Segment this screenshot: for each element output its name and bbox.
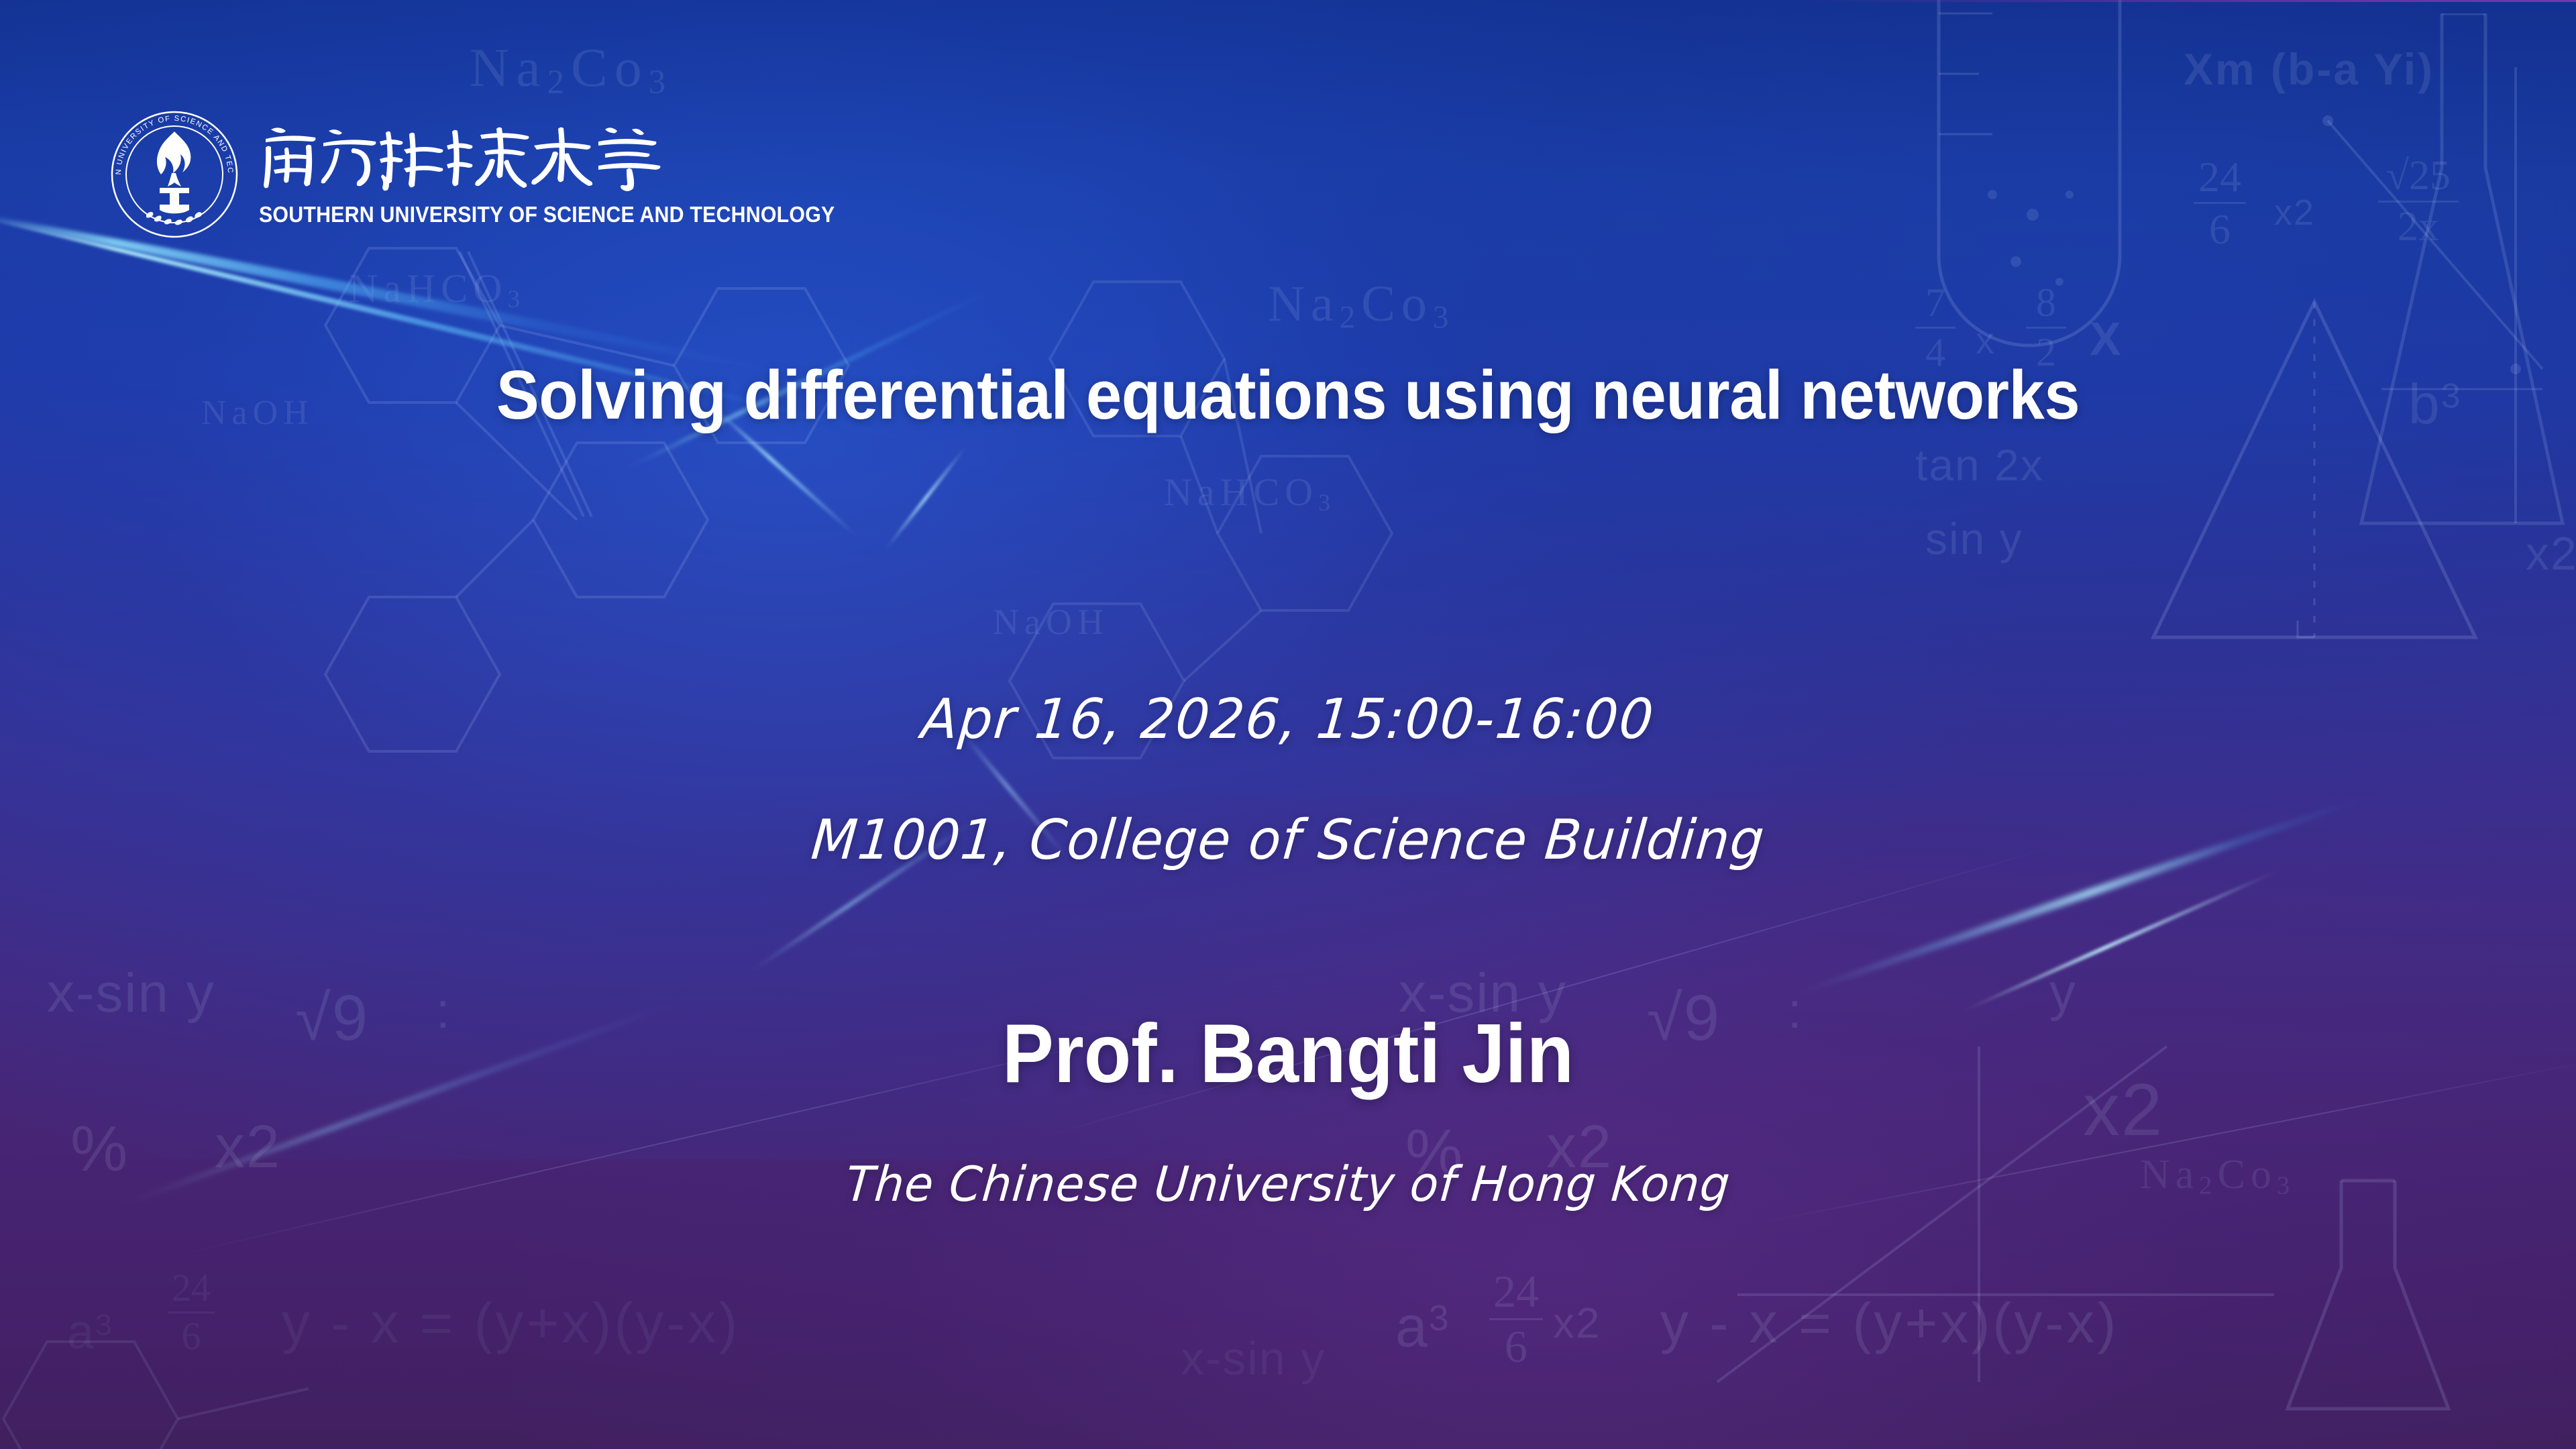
talk-venue: M1001, College of Science Building: [49, 808, 2528, 872]
watermark-fraction-24-6: 246: [1489, 1268, 1543, 1371]
watermark-sin-y: sin y: [1925, 517, 2023, 561]
logo-chinese-name-icon: [259, 119, 675, 194]
watermark-a-cubed: a3: [67, 1308, 113, 1356]
light-streak: [1960, 869, 2279, 1014]
speaker-name: Prof. Bangti Jin: [90, 1006, 2485, 1102]
university-logo: SOUTHERN UNIVERSITY OF SCIENCE AND TECHN…: [107, 107, 885, 241]
watermark-fraction-24-6: 246: [168, 1268, 215, 1357]
talk-title: Solving differential equations using neu…: [90, 356, 2485, 435]
watermark-formula-xm: Xm (b-a Yi): [2184, 47, 2434, 91]
watermark-times-symbol: x: [1976, 322, 1996, 360]
speaker-affiliation: The Chinese University of Hong Kong: [49, 1156, 2527, 1212]
watermark-na2co3: Na2Co3: [470, 40, 672, 99]
angle-lines-icon: [2314, 54, 2576, 540]
watermark-fraction-sqrt25-2x: √252x: [2378, 154, 2459, 249]
molecule-hexagon-icon: [0, 1328, 362, 1449]
background-glow-bottom: [515, 797, 2576, 1449]
watermark-difference-of-squares: y - x = (y+x)(y-x): [282, 1295, 740, 1351]
talk-datetime: Apr 16, 2026, 15:00-16:00: [49, 688, 2528, 751]
watermark-a-cubed: a3: [1395, 1298, 1450, 1356]
university-seal-icon: SOUTHERN UNIVERSITY OF SCIENCE AND TECHN…: [107, 107, 241, 241]
beaker-icon: [2261, 1174, 2475, 1446]
logo-wordmark: SOUTHERN UNIVERSITY OF SCIENCE AND TECHN…: [259, 119, 885, 230]
logo-english-name: SOUTHERN UNIVERSITY OF SCIENCE AND TECHN…: [259, 202, 835, 227]
watermark-x-sin-y: x-sin y: [1181, 1335, 1326, 1382]
seminar-poster: Na2Co3 NaHCO3 NaOH NaHCO3 NaOH Na2Co3 Na…: [0, 0, 2576, 1449]
watermark-na2co3: Na2Co3: [1268, 278, 1454, 333]
light-streak: [883, 444, 968, 552]
watermark-fraction-24-6: 246: [2194, 154, 2246, 252]
flask-icon: [2341, 13, 2576, 621]
watermark-x2: x2: [1553, 1301, 1601, 1344]
watermark-x2: x2: [2274, 195, 2315, 231]
watermark-x2: x2: [2526, 530, 2576, 577]
watermark-difference-of-squares: y - x = (y+x)(y-x): [1660, 1295, 2118, 1351]
watermark-tan-2x: tan 2x: [1915, 443, 2044, 487]
watermark-nahco3: NaHCO3: [1164, 473, 1336, 515]
triangle-outline-icon: [2133, 288, 2495, 667]
watermark-naoh: NaOH: [993, 604, 1109, 640]
top-edge-accent-line: [0, 0, 2576, 2]
watermark-nahco3: NaHCO3: [349, 268, 525, 312]
